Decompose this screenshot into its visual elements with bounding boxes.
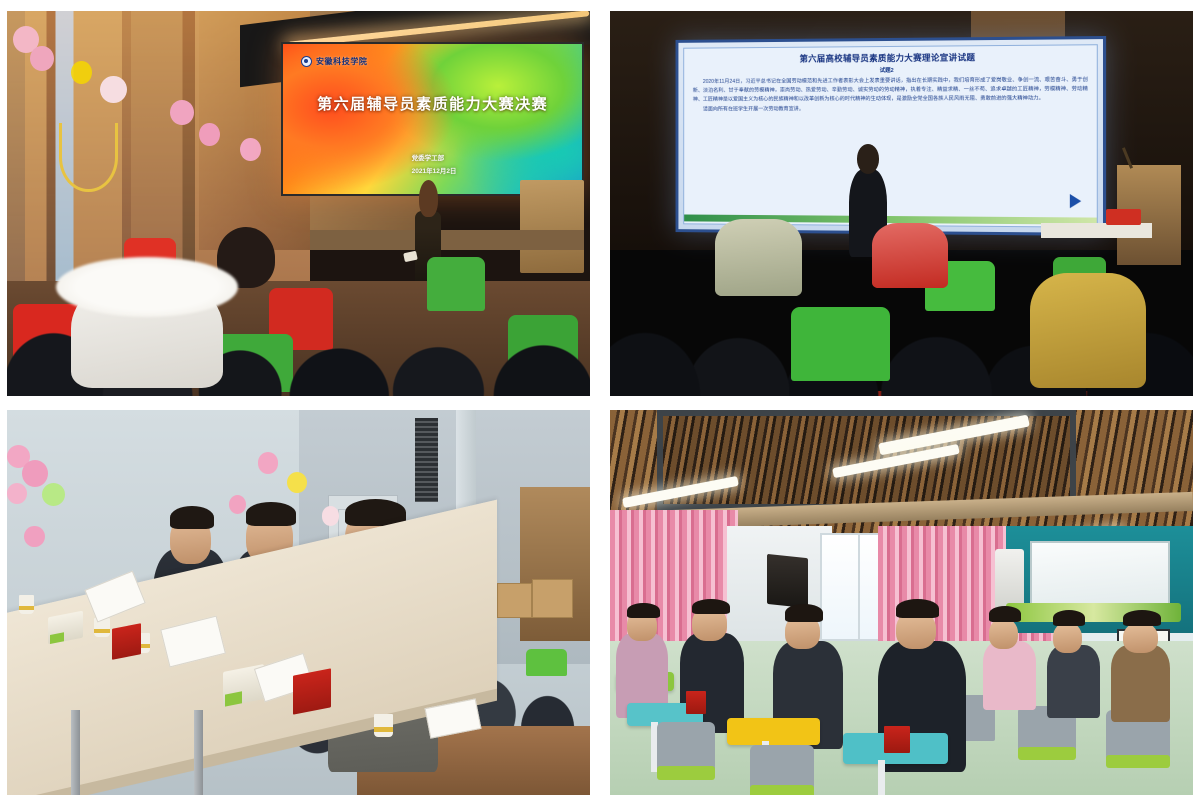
red-name-placard	[112, 623, 141, 659]
chair-seat-cushion	[657, 766, 715, 779]
chair-seat-cushion	[750, 785, 814, 795]
balloon-icon	[229, 495, 246, 514]
table-leg	[194, 710, 203, 795]
desk-leg	[878, 760, 885, 795]
balloon-icon	[22, 460, 48, 487]
balloon-icon	[199, 123, 219, 146]
ventilation-grille-icon	[415, 418, 438, 503]
paper-cup	[19, 595, 34, 614]
ceiling-speaker-icon	[767, 554, 808, 608]
red-name-placard	[884, 726, 910, 753]
chair-seat-cushion	[1106, 755, 1170, 768]
red-name-placard	[686, 691, 706, 714]
photo-panel-bottom-right	[610, 410, 1193, 795]
photo-panel-bottom-left	[7, 410, 590, 795]
red-name-placard	[293, 668, 331, 714]
attendee-head	[989, 618, 1018, 649]
attendee-khaki-jacket	[715, 219, 802, 296]
attendee-hair	[627, 603, 659, 618]
balloon-icon	[30, 46, 53, 71]
paper-cup	[374, 714, 393, 737]
balloon-icon	[24, 526, 44, 547]
attendee-hair	[1053, 610, 1085, 625]
attendee-hair	[785, 604, 823, 621]
judge-hair	[246, 502, 296, 525]
table-leg	[71, 710, 80, 795]
slide-title: 第六届高校辅导员素质能力大赛理论宣讲试题	[693, 50, 1088, 65]
slide-paragraph: 2020年11月24日，习近平总书记在全国劳动模范和先进工作者表彰大会上发表重要…	[693, 76, 1088, 105]
white-fur-coat-attendee	[71, 273, 223, 389]
attendee-hair	[896, 599, 940, 618]
event-organizer: 党委学工部	[412, 152, 445, 162]
chair-seat-cushion	[1018, 747, 1076, 760]
attendee-figure	[1111, 645, 1169, 722]
attendee-head	[1053, 622, 1082, 653]
judge-hair	[170, 506, 214, 529]
attendee-yellow-jacket	[1030, 273, 1147, 389]
photo-panel-top-right: 第六届高校辅导员素质能力大赛理论宣讲试题 试题2 2020年11月24日，习近平…	[610, 11, 1193, 396]
balloon-icon	[71, 61, 91, 84]
green-chair	[791, 307, 890, 380]
attendee-hair	[989, 606, 1021, 621]
university-emblem-icon	[301, 56, 312, 67]
green-chair	[526, 649, 567, 676]
institution-logo: 安徽科技学院	[301, 56, 368, 67]
attendee-hair	[692, 599, 730, 614]
yellow-desk	[727, 718, 820, 745]
balloon-icon	[100, 76, 126, 103]
attendee-head	[1123, 622, 1158, 653]
attendee-hair	[1123, 610, 1161, 625]
attendee-figure	[983, 641, 1035, 710]
balloon-icon	[322, 506, 339, 525]
attendee-figure	[1047, 645, 1099, 718]
balloon-icon	[287, 472, 307, 493]
slide-question-number: 试题2	[693, 65, 1088, 75]
balloon-icon	[258, 452, 278, 473]
whiteboard	[1030, 541, 1170, 606]
photo-panel-top-left: 安徽科技学院 第六届辅导员素质能力大赛决赛 党委学工部 2021年12月2日	[7, 11, 590, 396]
balloon-icon	[240, 138, 260, 161]
institution-logo-text: 安徽科技学院	[316, 56, 368, 67]
event-main-title: 第六届辅导员素质能力大赛决赛	[317, 93, 548, 114]
attendee-red-jacket	[872, 223, 948, 288]
balloon-icon	[170, 100, 193, 125]
slide-body: 2020年11月24日，习近平总书记在全国劳动模范和先进工作者表彰大会上发表重要…	[693, 76, 1088, 115]
slide-paragraph: 请面向所有在班学生开展一次劳动教育宣讲。	[693, 105, 1088, 115]
air-conditioner-icon	[995, 549, 1024, 611]
photo-collage: 安徽科技学院 第六届辅导员素质能力大赛决赛 党委学工部 2021年12月2日 第…	[0, 0, 1200, 800]
